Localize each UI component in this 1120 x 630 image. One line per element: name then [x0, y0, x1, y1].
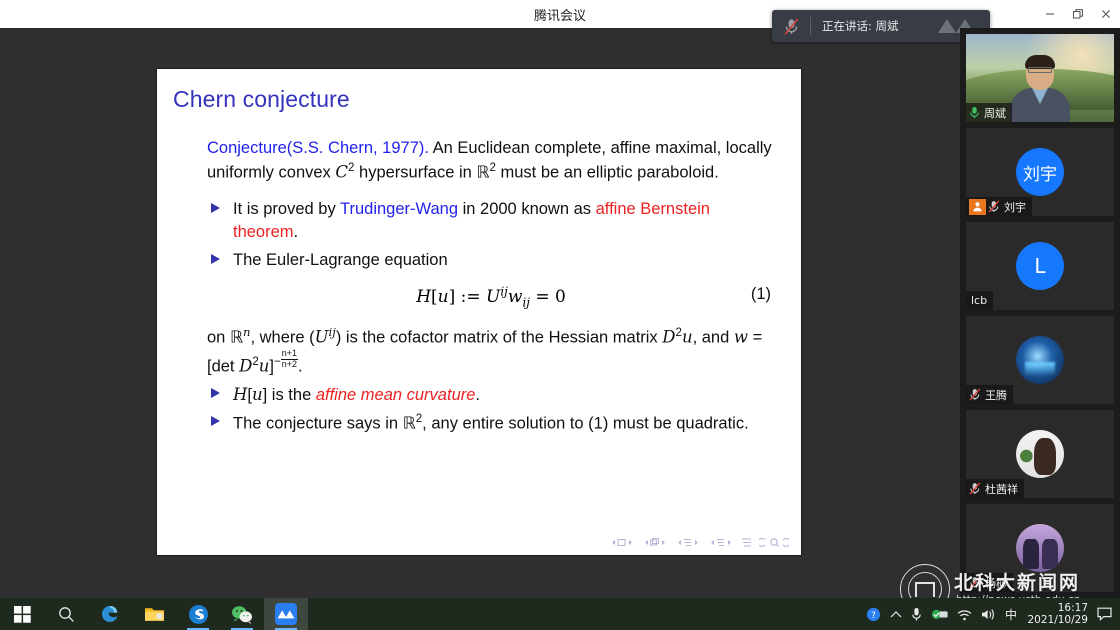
eq-assign: := — [461, 287, 481, 307]
participant-strip[interactable]: 周斌 刘宇 刘宇 — [960, 28, 1120, 630]
b3-text-2: , where ( — [250, 328, 314, 346]
nav-search-group-icon[interactable] — [759, 537, 789, 548]
b3-d: D — [662, 327, 675, 346]
b3-d2: D — [239, 357, 252, 376]
presentation-slide: Chern conjecture Conjecture(S.S. Chern, … — [157, 69, 801, 555]
participant-tile[interactable]: 杨柳 — [966, 504, 1114, 592]
tencent-meeting-window: 腾讯会议 Chern conjecture Conjecture(S.S. Ch — [0, 0, 1120, 630]
slide-body: Conjecture(S.S. Chern, 1977). An Euclide… — [207, 137, 775, 440]
b4-term: affine mean curvature — [316, 386, 476, 404]
bullet-item-quadratic: The conjecture says in ℝ2, any entire so… — [207, 411, 775, 436]
participant-name: 杜茜祥 — [985, 481, 1018, 497]
b4-u: u — [252, 385, 263, 404]
b5-text-1: The conjecture says in — [233, 415, 403, 433]
folder-icon — [144, 605, 165, 623]
b1-authors: Trudinger-Wang — [340, 200, 458, 218]
participant-namebar: 周斌 — [966, 103, 1012, 122]
participant-namebar: lcb — [966, 291, 993, 310]
mic-muted-icon — [988, 200, 1000, 213]
mic-muted-icon — [772, 10, 810, 42]
eq-bracket-open: [ — [431, 287, 438, 307]
notification-icon[interactable] — [1097, 607, 1112, 621]
speaking-label: 正在讲话: 周斌 — [811, 18, 899, 34]
window-title: 腾讯会议 — [534, 5, 586, 24]
b3-exp-sign: − — [274, 356, 281, 368]
math-c: C — [335, 163, 348, 182]
window-controls — [1036, 0, 1120, 28]
bullet-item-euler-lagrange: The Euler-Lagrange equation — [207, 249, 775, 272]
participant-video-person — [1009, 54, 1071, 122]
bullet-list: It is proved by Trudinger-Wang in 2000 k… — [207, 198, 775, 435]
speaker-icon[interactable] — [981, 608, 996, 621]
mic-muted-icon — [969, 576, 981, 589]
b5-text-2: , any entire solution to (1) must be qua… — [422, 415, 749, 433]
bullet-item-domain-note: on ℝn, where (Uij) is the cofactor matri… — [207, 324, 775, 379]
math-r-blackboard: ℝ — [476, 163, 489, 182]
close-button[interactable] — [1092, 0, 1120, 28]
help-circle-icon[interactable]: ? — [866, 607, 881, 622]
participant-tile[interactable]: 王腾 — [966, 316, 1114, 404]
avatar — [1016, 336, 1064, 384]
slide-title: Chern conjecture — [173, 86, 350, 113]
participant-name: 周斌 — [984, 105, 1006, 121]
participant-name: 刘宇 — [1004, 199, 1026, 215]
avatar — [1016, 430, 1064, 478]
b3-du: u — [682, 327, 693, 346]
math-r-blackboard: ℝ — [230, 327, 243, 346]
bullet-triangle-icon — [211, 254, 220, 264]
b3-du2: u — [259, 357, 270, 376]
taskbar-item-start[interactable] — [0, 598, 44, 630]
eq-cofactor: U — [486, 287, 500, 307]
participant-name: 杨柳 — [985, 575, 1007, 591]
avatar: 刘宇 — [1016, 148, 1064, 196]
nav-subsection-icon[interactable] — [675, 537, 701, 548]
speaking-toast: 正在讲话: 周斌 — [772, 10, 990, 42]
conjecture-text-3: must be an elliptic paraboloid. — [496, 164, 719, 182]
taskbar-items — [0, 598, 308, 630]
b4-text-1: is the — [267, 386, 316, 404]
conjecture-statement: Conjecture(S.S. Chern, 1977). An Euclide… — [207, 137, 775, 185]
nav-section-icon[interactable] — [708, 537, 734, 548]
participant-tile[interactable]: 刘宇 刘宇 — [966, 128, 1114, 216]
bullet-triangle-icon — [211, 203, 220, 213]
minimize-button[interactable] — [1036, 0, 1064, 28]
b2-text: The Euler-Lagrange equation — [233, 251, 448, 269]
b3-text-4: , and — [693, 328, 734, 346]
avatar: L — [1016, 242, 1064, 290]
b1-text-2: in 2000 known as — [458, 200, 596, 218]
b4-text-2: . — [475, 386, 480, 404]
taskbar-item-edge[interactable] — [88, 598, 132, 630]
search-icon — [58, 606, 75, 623]
avatar — [1016, 524, 1064, 572]
taskbar-item-search[interactable] — [44, 598, 88, 630]
bullet-triangle-icon — [211, 416, 220, 426]
eq-w: w — [508, 287, 523, 307]
eq-lhs: H — [416, 287, 431, 307]
conjecture-text-2: hypersurface in — [354, 164, 476, 182]
participant-tile[interactable]: L lcb — [966, 222, 1114, 310]
participant-tile[interactable]: 杜茜祥 — [966, 410, 1114, 498]
nav-document-icon[interactable] — [741, 537, 752, 548]
windows-logo-icon — [14, 606, 31, 623]
b1-text-3: . — [294, 223, 299, 241]
system-tray: ? — [866, 602, 1120, 626]
restore-button[interactable] — [1064, 0, 1092, 28]
beamer-navigation-bar[interactable] — [609, 537, 789, 548]
microphone-icon[interactable] — [911, 607, 922, 622]
b3-period: . — [298, 358, 303, 376]
equation-tag: (1) — [751, 285, 771, 304]
nav-frame-icon[interactable] — [642, 537, 668, 548]
participant-namebar: 杜茜祥 — [966, 479, 1024, 498]
eq-rhs: = 0 — [535, 287, 565, 307]
clock-date: 2021/10/29 — [1027, 614, 1088, 626]
equation-content: H[u] := Uijwij = 0 — [416, 287, 566, 307]
eq-bracket-close: ] — [449, 287, 456, 307]
shared-screen-area: Chern conjecture Conjecture(S.S. Chern, … — [0, 28, 960, 598]
math-r-blackboard: ℝ — [403, 414, 416, 433]
b1-text-1: It is proved by — [233, 200, 340, 218]
participant-namebar: 刘宇 — [966, 197, 1032, 216]
equation-row: H[u] := Uijwij = 0 (1) — [207, 285, 775, 310]
b3-u: U — [315, 327, 329, 346]
wifi-icon[interactable] — [957, 608, 972, 621]
svg-text:?: ? — [871, 611, 876, 621]
tencent-meeting-icon — [275, 603, 297, 625]
taskbar-item-wechat[interactable] — [220, 598, 264, 630]
wechat-icon — [231, 605, 253, 624]
participant-name: 王腾 — [985, 387, 1007, 403]
participant-namebar: 王腾 — [966, 385, 1013, 404]
eq-arg: u — [438, 287, 449, 307]
chevron-up-icon[interactable] — [890, 610, 902, 619]
security-shield-icon[interactable] — [931, 607, 948, 622]
b3-exponent-fraction: n+1n+2 — [281, 349, 298, 369]
taskbar-item-sogou-input[interactable] — [176, 598, 220, 630]
host-badge-icon — [969, 199, 986, 215]
sogou-icon — [188, 604, 209, 625]
eq-cofactor-indices: ij — [500, 285, 508, 299]
mic-muted-icon — [969, 388, 981, 401]
eq-w-indices: ij — [522, 296, 530, 310]
b3-u-indices: ij — [329, 325, 336, 339]
taskbar-item-file-explorer[interactable] — [132, 598, 176, 630]
taskbar-item-tencent-meeting[interactable] — [264, 598, 308, 630]
bullet-triangle-icon — [211, 388, 220, 398]
windows-taskbar: ? — [0, 598, 1120, 630]
b3-w: w — [734, 327, 748, 346]
mic-muted-icon — [969, 482, 981, 495]
nav-slide-icon[interactable] — [609, 537, 635, 548]
b4-h: H — [233, 385, 247, 404]
participant-namebar: 杨柳 — [966, 573, 1013, 592]
participant-tile[interactable]: 周斌 — [966, 34, 1114, 122]
b3-exp-denominator: n+2 — [281, 360, 298, 369]
b3-text-1: on — [207, 328, 230, 346]
conjecture-lead: Conjecture(S.S. Chern, 1977). — [207, 139, 429, 157]
edge-browser-icon — [100, 604, 120, 624]
clock-time: 16:17 — [1058, 602, 1088, 614]
b3-text-3: ) is the cofactor matrix of the Hessian … — [336, 328, 662, 346]
participant-name: lcb — [971, 294, 987, 307]
taskbar-clock[interactable]: 16:17 2021/10/29 — [1026, 602, 1088, 626]
ime-indicator[interactable]: 中 — [1005, 606, 1017, 623]
mic-on-icon — [969, 106, 980, 119]
b3-exponent-group: −n+1n+2 — [274, 356, 298, 368]
bullet-item-affine-mean-curvature: H[u] is the affine mean curvature. — [207, 383, 775, 407]
bullet-item-proof: It is proved by Trudinger-Wang in 2000 k… — [207, 198, 775, 244]
